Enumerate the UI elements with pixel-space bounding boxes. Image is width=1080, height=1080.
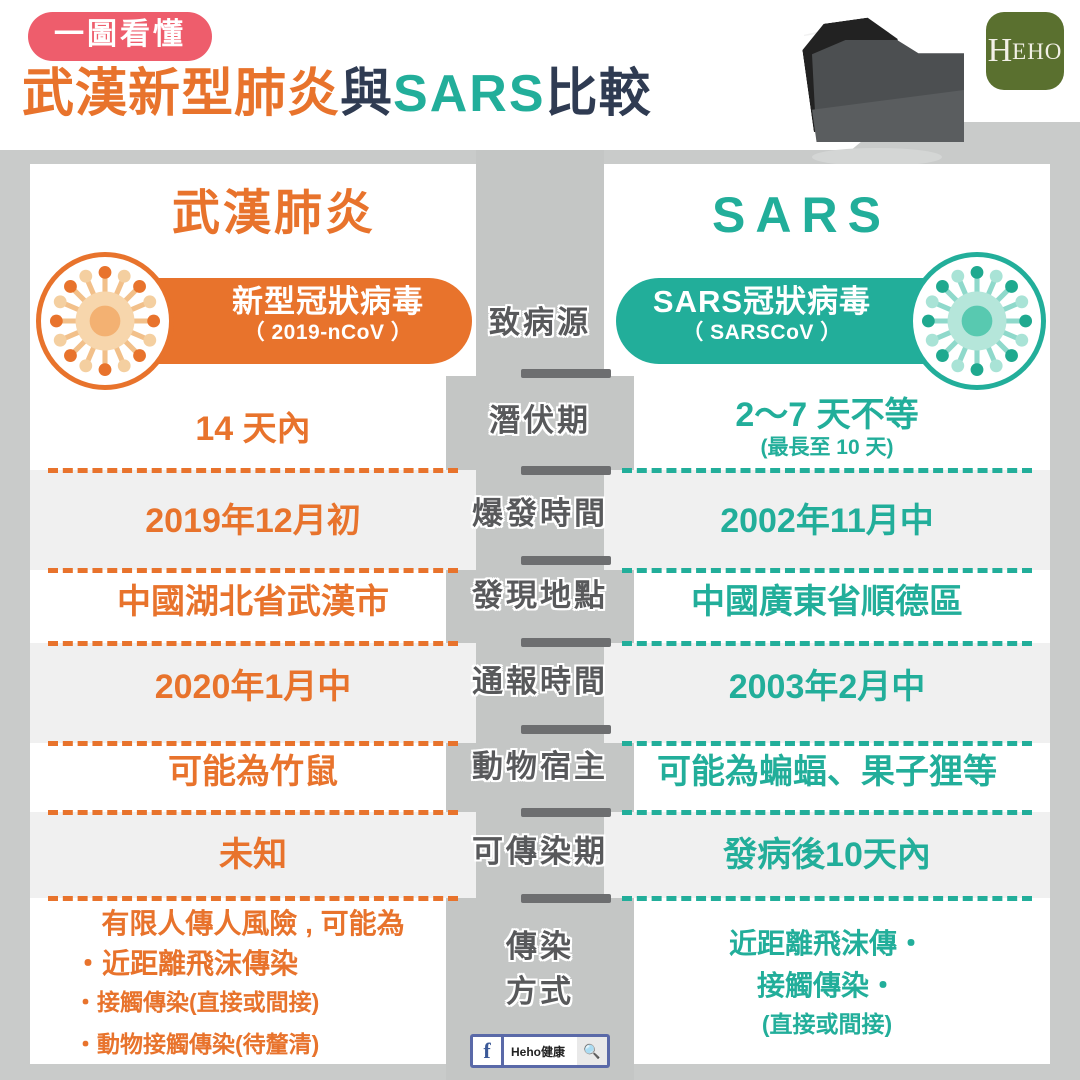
row-label-pathogen: 致病源 <box>446 306 634 341</box>
page-title-part4: 比較 <box>546 65 652 123</box>
right-transmission-line-1: 接觸傳染・ <box>604 970 1050 1001</box>
row-separator-6 <box>521 894 611 903</box>
right-divider-5 <box>622 810 1032 815</box>
left-divider-4 <box>48 741 458 746</box>
left-transmission-line-2: ・接觸傳染(直接或間接) <box>30 990 476 1016</box>
right-transmission-line-2: (直接或間接) <box>604 1012 1050 1038</box>
right-value-animal-host: 可能為蝙蝠、果子狸等 <box>604 753 1050 791</box>
left-transmission-line-0: 有限人傳人風險 , 可能為 <box>30 908 476 939</box>
left-value-outbreak-time: 2019年12月初 <box>30 502 476 540</box>
right-divider-1 <box>622 468 1032 473</box>
center-strip-top <box>476 150 604 380</box>
left-divider-1 <box>48 468 458 473</box>
left-transmission-line-3: ・動物接觸傳染(待釐清) <box>30 1032 476 1058</box>
left-value-animal-host: 可能為竹鼠 <box>30 753 476 791</box>
heho-logo-eho: EHO <box>1012 40 1062 63</box>
facebook-page-name[interactable]: Heho健康 <box>504 1037 577 1065</box>
right-value-discovery-place: 中國廣東省順德區 <box>604 583 1050 621</box>
row-separator-2 <box>521 556 611 565</box>
coronavirus-icon-orange <box>36 252 174 390</box>
left-divider-5 <box>48 810 458 815</box>
row-separator-3 <box>521 638 611 647</box>
right-pathogen-code: （ SARSCoV ） <box>616 321 908 344</box>
right-divider-3 <box>622 641 1032 646</box>
left-transmission-line-1: ・近距離飛沫傳染 <box>30 948 476 979</box>
row-separator-0 <box>521 369 611 378</box>
left-pathogen-name: 新型冠狀病毒 <box>184 284 472 321</box>
left-value-infectious-period: 未知 <box>30 836 476 874</box>
left-value-report-time: 2020年1月中 <box>30 668 476 706</box>
coronavirus-icon-teal <box>908 252 1046 390</box>
row-separator-1 <box>521 466 611 475</box>
left-pathogen-code: （ 2019-nCoV ） <box>184 321 472 344</box>
left-column-title: 武漢肺炎 <box>172 190 376 238</box>
row-separator-4 <box>521 725 611 734</box>
right-transmission-line-0: 近距離飛沫傳・ <box>604 928 1050 959</box>
search-icon[interactable]: 🔍 <box>577 1037 607 1065</box>
heho-logo[interactable]: HEHO <box>986 12 1064 90</box>
right-pathogen-name: SARS冠狀病毒 <box>616 284 908 321</box>
right-value-report-time: 2003年2月中 <box>604 668 1050 706</box>
right-column-title: SARS <box>712 190 891 240</box>
right-value-outbreak-time: 2002年11月中 <box>604 502 1050 540</box>
left-divider-6 <box>48 896 458 901</box>
folder-icon <box>790 14 990 154</box>
page-title: 武漢新型肺炎與SARS比較 <box>22 66 652 123</box>
left-value-discovery-place: 中國湖北省武漢市 <box>30 583 476 621</box>
row-separator-5 <box>521 808 611 817</box>
facebook-icon: f <box>473 1037 501 1065</box>
left-value-incubation: 14 天內 <box>30 410 476 448</box>
heho-logo-h: H <box>988 34 1013 68</box>
infographic-root: 一圖看懂 武漢新型肺炎與SARS比較 HEHO 武漢肺炎 SARS 新型冠狀病毒… <box>0 0 1080 1080</box>
page-title-part1: 武漢新型肺炎 <box>22 65 340 123</box>
right-divider-4 <box>622 741 1032 746</box>
page-title-part2: 與 <box>340 65 393 123</box>
right-value-incubation-note: (最長至 10 天) <box>604 436 1050 460</box>
right-divider-2 <box>622 568 1032 573</box>
header-badge: 一圖看懂 <box>28 12 212 61</box>
left-divider-2 <box>48 568 458 573</box>
facebook-page-badge[interactable]: f Heho健康 🔍 <box>470 1034 610 1068</box>
right-value-infectious-period: 發病後10天內 <box>604 836 1050 874</box>
page-title-part3: SARS <box>393 65 545 123</box>
right-divider-6 <box>622 896 1032 901</box>
right-value-incubation: 2～7 天不等 <box>604 396 1050 434</box>
left-divider-3 <box>48 641 458 646</box>
